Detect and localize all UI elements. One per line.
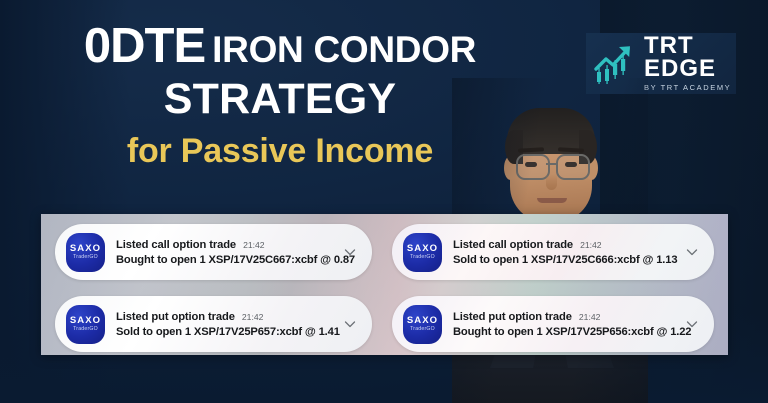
notification-card[interactable]: SAXO TraderGO Listed call option trade 2… <box>55 224 372 280</box>
chevron-down-icon[interactable] <box>342 316 358 332</box>
headline-line-1: 0DTEIRON CONDOR <box>0 22 560 71</box>
notification-timestamp: 21:42 <box>242 312 264 322</box>
logo-line-edge: EDGE <box>644 58 731 81</box>
headline-subtitle-text: for Passive Income <box>127 132 433 170</box>
notification-card[interactable]: SAXO TraderGO Listed call option trade 2… <box>392 224 714 280</box>
saxo-logo-text: SAXO <box>70 316 101 326</box>
saxo-logo-text: SAXO <box>407 316 438 326</box>
chevron-down-icon[interactable] <box>684 316 700 332</box>
notification-body: Listed put option trade 21:42 Bought to … <box>453 311 678 338</box>
headline-line-1-rest: IRON CONDOR <box>212 29 476 70</box>
notification-detail: Sold to open 1 XSP/17V25P657:xcbf @ 1.41 <box>116 326 336 338</box>
saxo-logo-subtext: TraderGO <box>73 255 98 260</box>
chevron-down-icon[interactable] <box>342 244 358 260</box>
notification-detail: Bought to open 1 XSP/17V25P656:xcbf @ 1.… <box>453 326 678 338</box>
notification-header-row: Listed put option trade 21:42 <box>116 311 336 323</box>
saxo-tradergo-icon: SAXO TraderGO <box>403 233 442 272</box>
notification-card[interactable]: SAXO TraderGO Listed put option trade 21… <box>55 296 372 352</box>
promo-banner: 0DTEIRON CONDOR STRATEGY for Passive Inc… <box>0 0 768 403</box>
saxo-logo-text: SAXO <box>70 244 101 254</box>
notification-header-row: Listed call option trade 21:42 <box>116 239 336 251</box>
notification-detail: Sold to open 1 XSP/17V25C666:xcbf @ 1.13 <box>453 254 678 266</box>
saxo-logo-subtext: TraderGO <box>410 255 435 260</box>
saxo-tradergo-icon: SAXO TraderGO <box>403 305 442 344</box>
notification-detail: Bought to open 1 XSP/17V25C667:xcbf @ 0.… <box>116 254 336 266</box>
saxo-logo-text: SAXO <box>407 244 438 254</box>
notification-timestamp: 21:42 <box>580 240 602 250</box>
notification-title: Listed put option trade <box>116 311 235 323</box>
notification-title: Listed call option trade <box>116 239 236 251</box>
notification-timestamp: 21:42 <box>243 240 265 250</box>
headline-strategy-text: STRATEGY <box>164 75 397 123</box>
notification-title: Listed call option trade <box>453 239 573 251</box>
saxo-logo-subtext: TraderGO <box>73 327 98 332</box>
saxo-tradergo-icon: SAXO TraderGO <box>66 305 105 344</box>
chevron-down-icon[interactable] <box>684 244 700 260</box>
notification-card[interactable]: SAXO TraderGO Listed put option trade 21… <box>392 296 714 352</box>
notification-header-row: Listed put option trade 21:42 <box>453 311 678 323</box>
notification-title: Listed put option trade <box>453 311 572 323</box>
notification-body: Listed call option trade 21:42 Bought to… <box>116 239 336 266</box>
trt-edge-wordmark: TRT EDGE BY TRT ACADEMY <box>644 35 731 93</box>
notification-timestamp: 21:42 <box>579 312 601 322</box>
notification-header-row: Listed call option trade 21:42 <box>453 239 678 251</box>
saxo-tradergo-icon: SAXO TraderGO <box>66 233 105 272</box>
headline-emphasis: 0DTE <box>84 19 205 73</box>
logo-tagline: BY TRT ACADEMY <box>644 83 731 92</box>
notification-body: Listed put option trade 21:42 Sold to op… <box>116 311 336 338</box>
saxo-logo-subtext: TraderGO <box>410 327 435 332</box>
notification-body: Listed call option trade 21:42 Sold to o… <box>453 239 678 266</box>
